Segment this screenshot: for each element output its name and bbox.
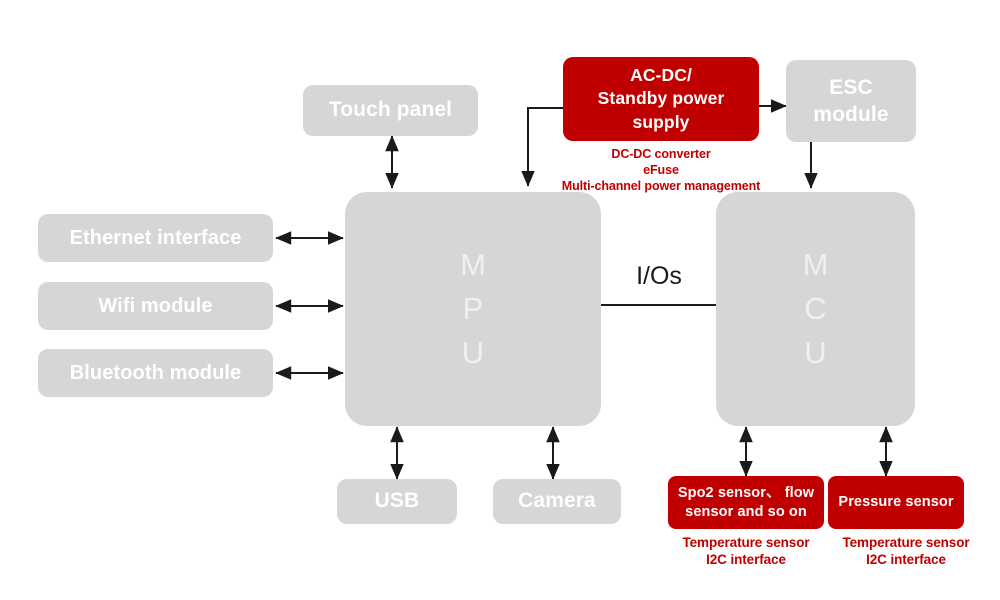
caption-power-supply: DC-DC converter eFuse Multi-channel powe… <box>551 146 771 194</box>
mpu-letter-2: P <box>463 287 484 331</box>
esc-line-2: module <box>813 101 888 128</box>
sensor-right-caption-line-2: I2C interface <box>822 551 990 568</box>
node-power-supply[interactable]: AC-DC/ Standby power supply <box>563 57 759 141</box>
node-camera[interactable]: Camera <box>493 479 621 524</box>
mcu-letter-2: C <box>804 287 826 331</box>
caption-sensor-left: Temperature sensor I2C interface <box>662 534 830 569</box>
power-supply-line-2: Standby power <box>598 87 725 110</box>
node-esc-module[interactable]: ESC module <box>786 60 916 142</box>
node-mpu[interactable]: M P U <box>345 192 601 426</box>
sensor-right-caption-line-1: Temperature sensor <box>822 534 990 551</box>
node-bluetooth-module[interactable]: Bluetooth module <box>38 349 273 397</box>
sensor-left-line-1: Spo2 sensor、 flow <box>678 484 814 503</box>
ios-label: I/Os <box>636 262 682 290</box>
power-caption-line-3: Multi-channel power management <box>551 178 771 194</box>
sensor-left-caption-line-2: I2C interface <box>662 551 830 568</box>
node-mcu[interactable]: M C U <box>716 192 915 426</box>
diagram-canvas: Touch panel Ethernet interface Wifi modu… <box>0 0 1000 600</box>
node-sensor-right[interactable]: Pressure sensor <box>828 476 964 529</box>
esc-line-1: ESC <box>829 74 872 101</box>
node-ethernet-interface[interactable]: Ethernet interface <box>38 214 273 262</box>
mcu-letter-3: U <box>804 331 826 375</box>
node-touch-panel[interactable]: Touch panel <box>303 85 478 136</box>
power-supply-line-1: AC-DC/ <box>630 64 692 87</box>
caption-sensor-right: Temperature sensor I2C interface <box>822 534 990 569</box>
edge-label-ios: I/Os <box>608 262 710 291</box>
mpu-letters: M P U <box>460 243 486 375</box>
node-usb[interactable]: USB <box>337 479 457 524</box>
sensor-left-line-2: sensor and so on <box>685 503 807 522</box>
ethernet-label: Ethernet interface <box>70 227 242 250</box>
sensor-left-caption-line-1: Temperature sensor <box>662 534 830 551</box>
power-caption-line-1: DC-DC converter <box>551 146 771 162</box>
power-supply-line-3: supply <box>633 111 690 134</box>
mpu-letter-3: U <box>462 331 484 375</box>
wifi-label: Wifi module <box>98 295 212 318</box>
bluetooth-label: Bluetooth module <box>70 362 242 385</box>
usb-label: USB <box>375 489 420 513</box>
mcu-letters: M C U <box>803 243 829 375</box>
sensor-right-line-1: Pressure sensor <box>838 493 953 512</box>
node-sensor-left[interactable]: Spo2 sensor、 flow sensor and so on <box>668 476 824 529</box>
mpu-letter-1: M <box>460 243 486 287</box>
camera-label: Camera <box>518 489 596 513</box>
power-caption-line-2: eFuse <box>551 162 771 178</box>
touch-panel-label: Touch panel <box>329 98 452 122</box>
node-wifi-module[interactable]: Wifi module <box>38 282 273 330</box>
mcu-letter-1: M <box>803 243 829 287</box>
